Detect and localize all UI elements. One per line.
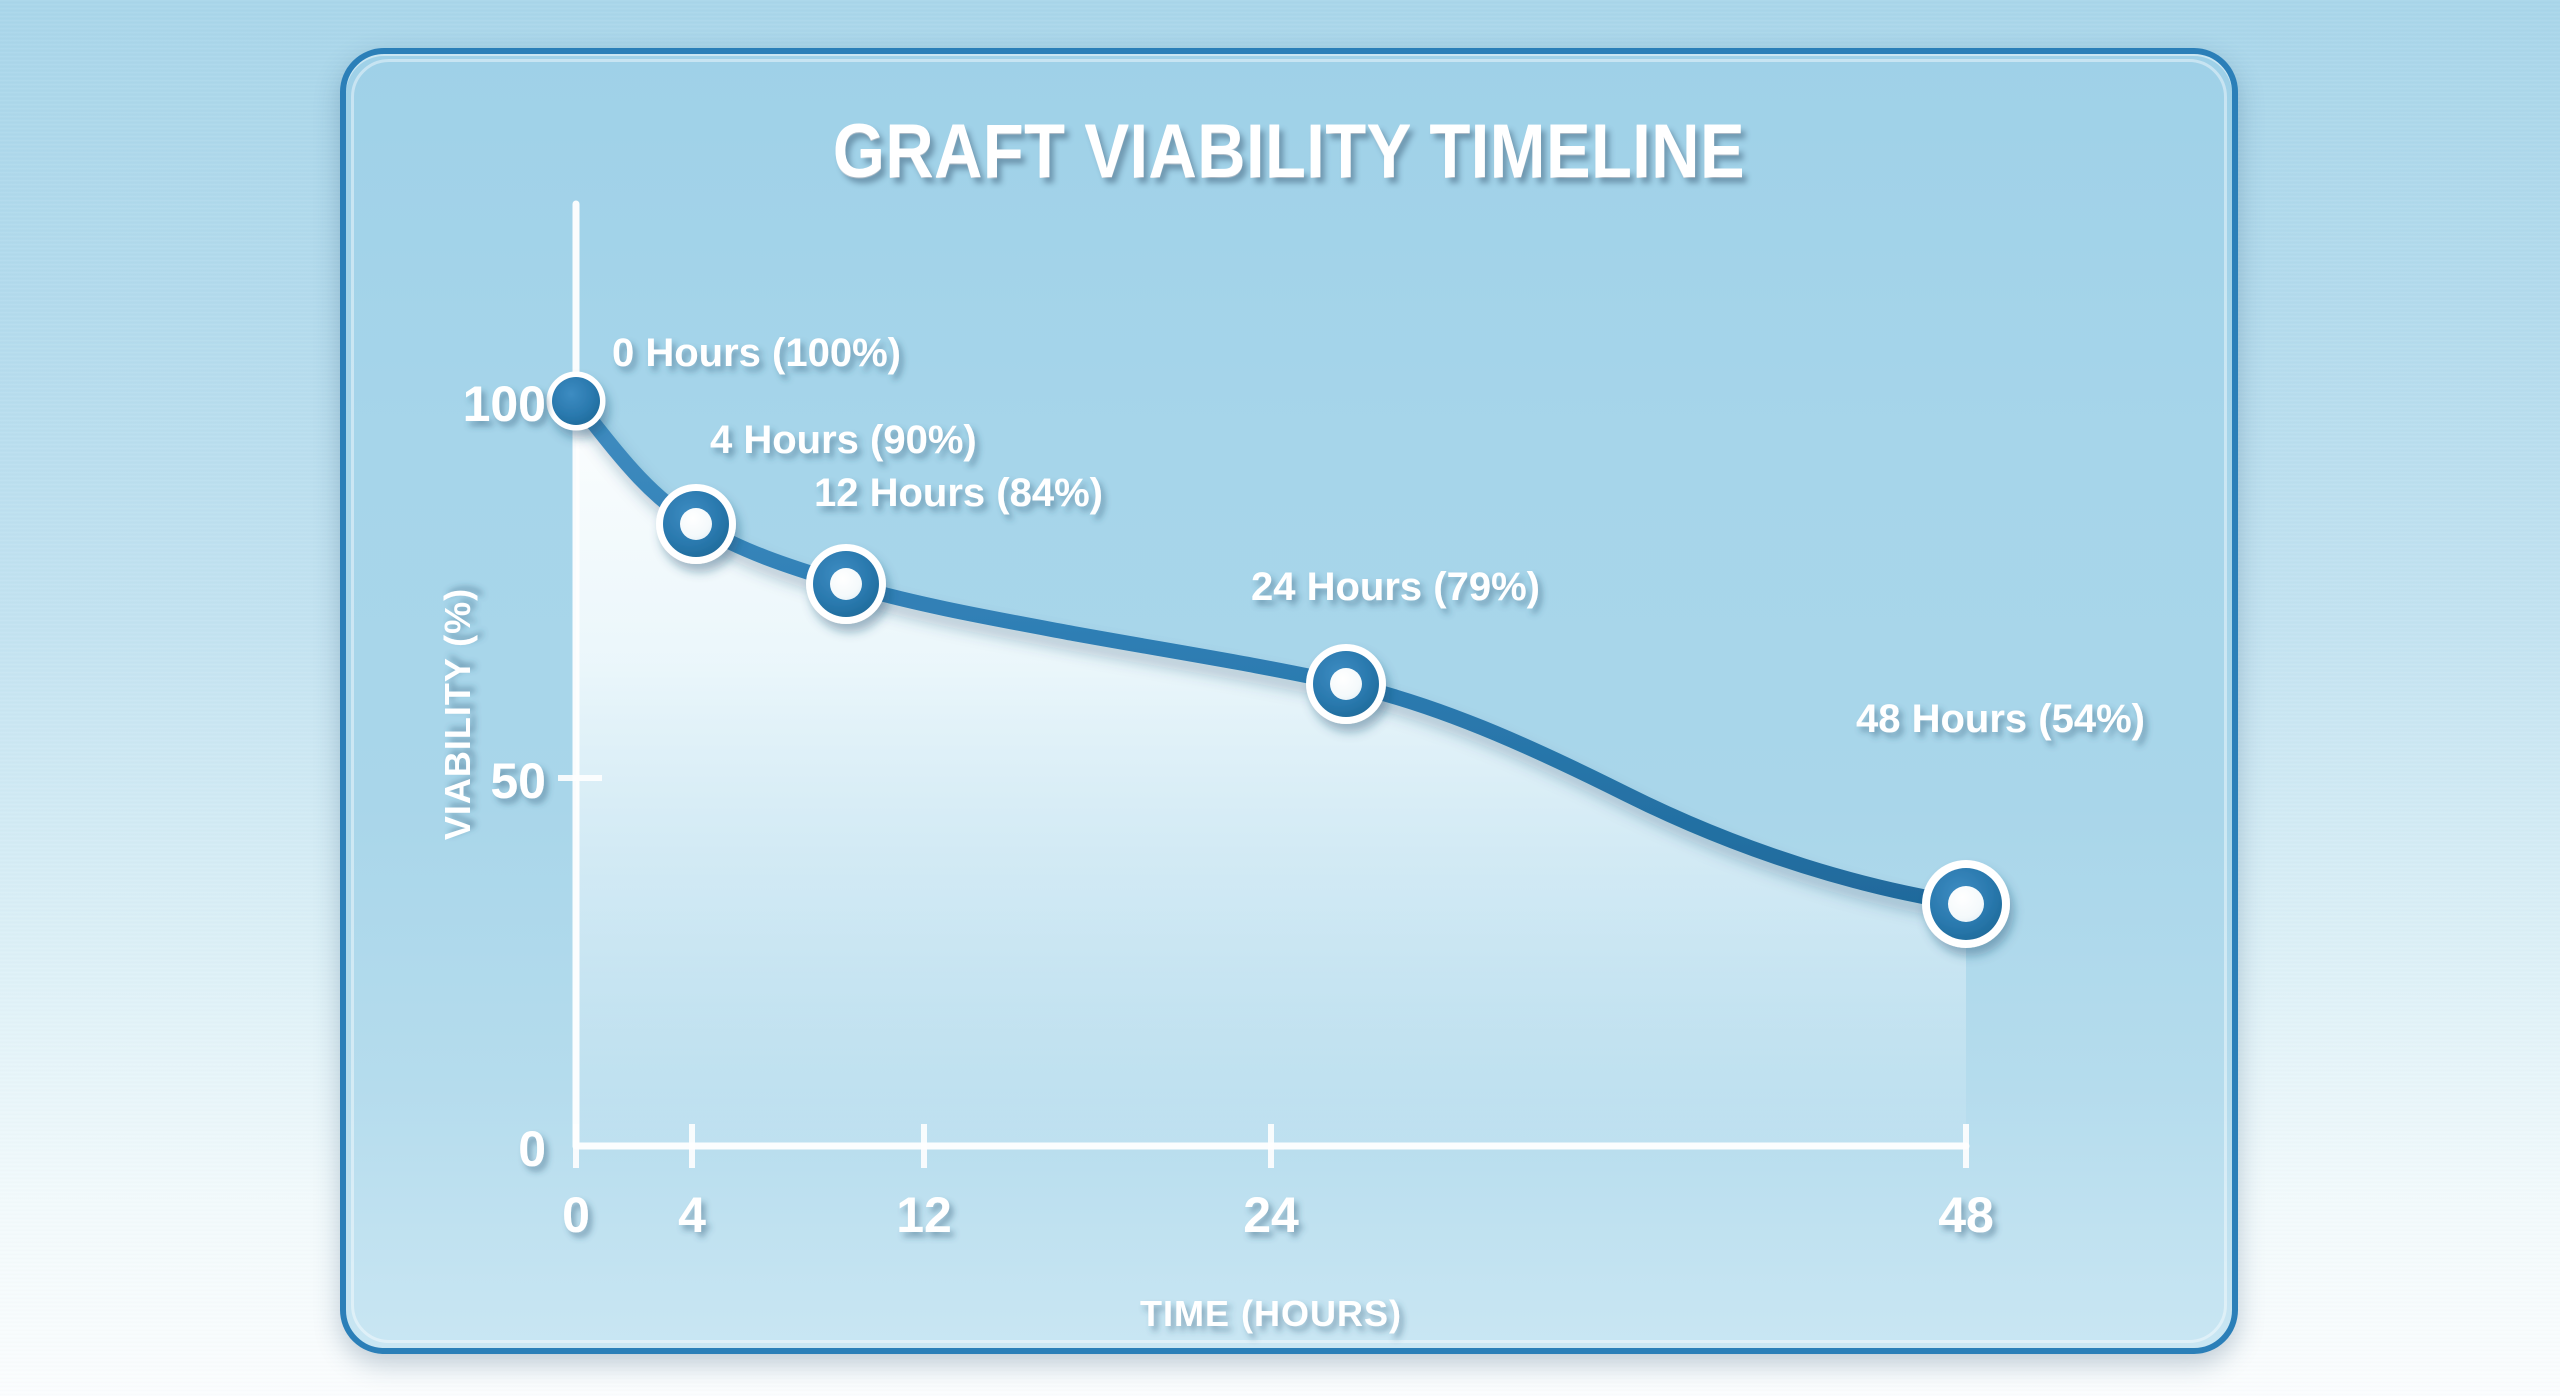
- x-axis-title: TIME (HOURS): [1140, 1293, 1402, 1334]
- point-label-12h: 12 Hours (84%): [814, 471, 1103, 515]
- x-tick-label-4: 4: [678, 1187, 706, 1243]
- x-tick-label-0: 0: [562, 1187, 590, 1243]
- y-axis-title: VIABILITY (%): [437, 588, 478, 840]
- x-tick-label-24: 24: [1243, 1187, 1299, 1243]
- data-point-marker[interactable]: [550, 375, 602, 427]
- data-point-marker[interactable]: [1922, 860, 2010, 948]
- y-tick-label-0: 0: [518, 1121, 546, 1177]
- chart-plot: 0 Hours (100%) 4 Hours (90%) 12 Hours (8…: [346, 54, 2232, 1348]
- data-point-marker[interactable]: [656, 484, 736, 564]
- data-point-marker[interactable]: [806, 544, 886, 624]
- point-label-0h: 0 Hours (100%): [612, 331, 901, 375]
- point-label-24h: 24 Hours (79%): [1251, 565, 1540, 609]
- y-tick-label-100: 100: [463, 376, 546, 432]
- x-tick-label-48: 48: [1938, 1187, 1994, 1243]
- chart-card: GRAFT VIABILITY TIMELINE: [340, 48, 2238, 1354]
- point-label-48h: 48 Hours (54%): [1856, 697, 2145, 741]
- area-fill: [576, 401, 1966, 1146]
- point-label-4h: 4 Hours (90%): [710, 418, 977, 462]
- y-tick-label-50: 50: [490, 753, 546, 809]
- x-tick-label-12: 12: [896, 1187, 952, 1243]
- data-point-marker[interactable]: [1306, 644, 1386, 724]
